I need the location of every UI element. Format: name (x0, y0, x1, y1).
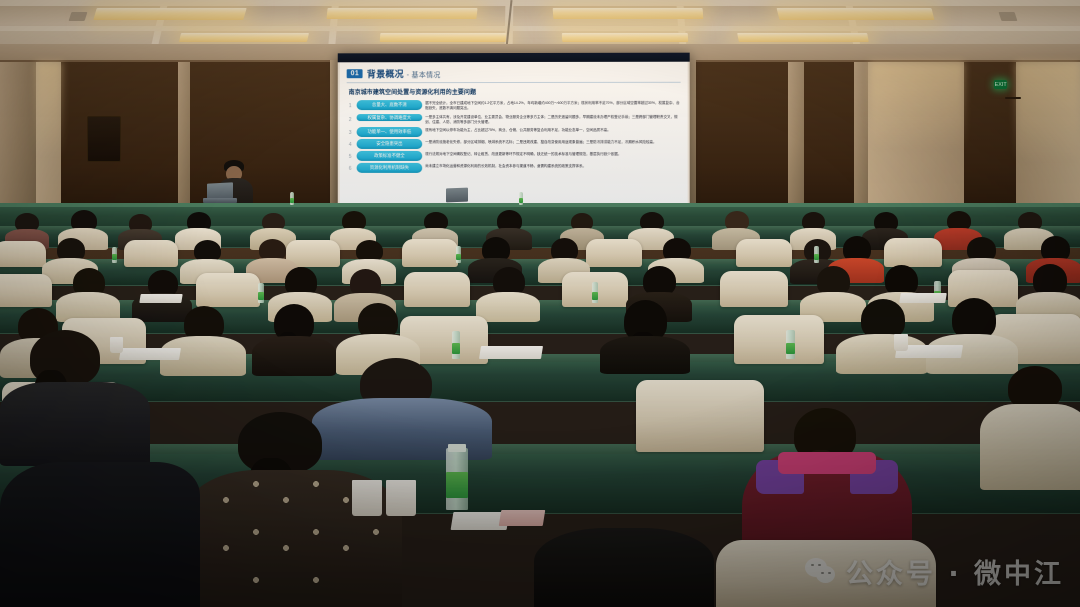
slide-number-badge: 01 (347, 69, 363, 78)
attendee (0, 330, 150, 460)
slide-title-main: 背景概况 (367, 69, 404, 79)
attendee (600, 300, 690, 370)
wall-speaker (87, 116, 121, 162)
slide-title-row: 01 背景概况 - 基本情况 (347, 67, 681, 80)
slide-row-index: 3 (347, 127, 354, 136)
slide-title: 背景概况 - 基本情况 (367, 67, 441, 80)
ceiling-vent (69, 12, 88, 21)
bottle-label (258, 292, 264, 300)
torso (476, 292, 540, 322)
chair (0, 274, 52, 307)
torso (0, 382, 150, 466)
torso (534, 528, 714, 607)
slide-row-pill: 政策标准不健全 (357, 151, 423, 161)
slide-row-index: 1 (347, 100, 354, 109)
slide-row: 4 安全隐患突出 一是消防设施老化失修，部分区域排烟、喷淋系统不达标；二是违规改… (347, 139, 681, 149)
exit-sign: EXIT (994, 80, 1007, 89)
ceiling-light (93, 8, 246, 20)
slide-row: 5 政策标准不健全 现行法规对地下空间确权登记、转让租赁、改造更新等环节规定不明… (347, 151, 681, 161)
presentation-slide: 01 背景概况 - 基本情况 南京城市建筑空间处置与资源化利用的主要问题 1 总… (340, 62, 688, 215)
presenter-laptop-base (203, 198, 237, 203)
attendee (836, 299, 928, 370)
bottle-label (452, 343, 460, 354)
slide-row-pill: 安全隐患突出 (357, 139, 423, 149)
slide-row: 6 资源化利用机制缺失 尚未建立市场化运营和资源化利用的长效机制，社会资本参与渠… (347, 163, 681, 173)
slide-row-index: 4 (347, 139, 354, 148)
bottle-label (786, 343, 795, 354)
slide-row-pill: 权属复杂、协调难度大 (357, 114, 423, 122)
chair (196, 273, 260, 307)
chair (124, 240, 178, 267)
slide-row: 3 功能单一、使用效率低 现有地下空间以停车功能为主，占比超过75%，商业、仓储… (347, 127, 681, 137)
chair (734, 315, 824, 364)
ceiling-beam (0, 26, 1080, 31)
slide-lead-text: 南京城市建筑空间处置与资源化利用的主要问题 (349, 87, 681, 96)
chair (736, 239, 792, 267)
door-handle[interactable] (1005, 97, 1021, 99)
bottle-label (519, 198, 523, 203)
chair (402, 239, 458, 267)
ceiling-light (737, 33, 869, 42)
head-table-edge (0, 203, 1080, 207)
ceiling-light (777, 8, 935, 20)
slide-title-suffix: - 基本情况 (407, 72, 441, 79)
laptop-screen (446, 188, 468, 203)
slide-row-text: 现行法规对地下空间确权登记、转让租赁、改造更新等环节规定不明确，缺乏统一的技术标… (425, 151, 680, 157)
attendee (160, 306, 246, 370)
torso (600, 336, 690, 374)
attendee (1016, 264, 1080, 318)
bottle-label (814, 254, 819, 260)
attendee (926, 298, 1018, 370)
ceiling-light (326, 8, 477, 19)
slide-row-pill: 功能单一、使用效率低 (357, 127, 423, 137)
slide-row-text: 现有地下空间以停车功能为主，占比超过75%，商业、仓储、公共服务等复合利用不足，… (425, 127, 680, 133)
wall-panel-dark (962, 62, 1020, 212)
ceiling-light (553, 8, 704, 19)
slide-row-text: 据不完全统计，全市已建成地下空间约1.2亿平方米，占地14.2%，年均新增约40… (425, 100, 680, 112)
bottle-label (456, 254, 461, 260)
conference-room-photo: EXIT 01 背景概况 - 基本情况 南京城市建筑空间处置与资源化利用的主要问… (0, 0, 1080, 607)
slide-row: 1 总量大、底数不清 据不完全统计，全市已建成地下空间约1.2亿平方米，占地14… (347, 100, 681, 112)
attendee (980, 366, 1080, 486)
ceiling-light (562, 33, 688, 42)
paper-cup (352, 480, 382, 516)
slide-row-index: 6 (347, 163, 354, 172)
torso (0, 462, 200, 607)
slide-row-index: 5 (347, 151, 354, 160)
chair (720, 271, 788, 307)
slide-row: 2 权属复杂、协调难度大 一是多主体共有，涉及开发建设单位、业主委员会、物业服务… (347, 113, 681, 125)
bottle-label (112, 254, 117, 260)
bottle-label (592, 292, 598, 300)
exit-sign-label: EXIT (994, 82, 1006, 87)
ceiling-light (179, 33, 309, 42)
wall-light-wash (1016, 62, 1080, 162)
table-edge (0, 226, 1080, 230)
ceiling-light (380, 33, 507, 42)
booklet (499, 510, 546, 526)
slide-row-text: 尚未建立市场化运营和资源化利用的长效机制，社会资本参与渠道不畅，亟需构建系统的政… (425, 163, 680, 169)
chair (586, 239, 642, 267)
attendee (476, 267, 540, 318)
chair (716, 540, 936, 607)
chair (884, 238, 942, 267)
wall-light-wash (36, 62, 62, 157)
bottle-label (290, 198, 294, 203)
slide-row-text: 一是消防设施老化失修，部分区域排烟、喷淋系统不达标；二是违规改建、擅自改变使用用… (425, 139, 680, 145)
wall-panel-dark (800, 62, 858, 212)
document-paper (139, 294, 182, 303)
ceiling-vent (999, 12, 1018, 21)
slide-row-list: 1 总量大、底数不清 据不完全统计，全市已建成地下空间约1.2亿平方米，占地14… (347, 100, 681, 173)
wall-light-wash (870, 62, 964, 150)
slide-row-pill: 资源化利用机制缺失 (357, 163, 423, 173)
slide-divider (347, 82, 681, 83)
jacket-collar (778, 452, 876, 474)
table-edge (0, 444, 1080, 454)
paper-cup (386, 480, 416, 516)
chair (0, 241, 46, 267)
projection-screen: 01 背景概况 - 基本情况 南京城市建筑空间处置与资源化利用的主要问题 1 总… (338, 53, 690, 217)
paper-cup (894, 334, 908, 351)
attendee-foreground-center (534, 528, 714, 607)
attendee-foreground-left (0, 462, 200, 607)
chair (404, 272, 470, 307)
wall-panel-dark (692, 62, 792, 212)
wall-pillar (788, 62, 804, 214)
wall-pillar (178, 62, 190, 214)
slide-row-text: 一是多主体共有，涉及开发建设单位、业主委员会、物业服务企业等多方主体；二是历史遗… (425, 113, 680, 125)
wall-pillar (0, 62, 36, 222)
torso (980, 404, 1080, 490)
slide-row-pill: 总量大、底数不清 (357, 100, 423, 110)
bottle-cap (448, 444, 466, 452)
slide-row-index: 2 (347, 114, 354, 123)
bottle-label (446, 472, 468, 498)
